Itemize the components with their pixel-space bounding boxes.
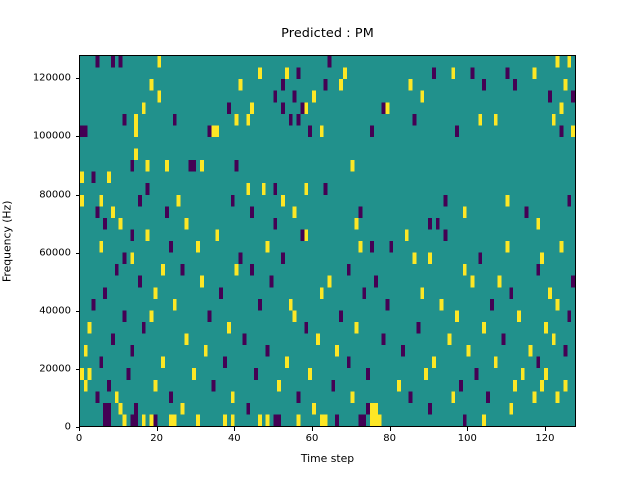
heatmap-axes[interactable] — [79, 55, 576, 427]
y-tick-mark — [76, 427, 80, 428]
x-tick-label: 60 — [306, 433, 319, 444]
y-tick-label: 20000 — [39, 363, 71, 374]
heatmap-mesh — [80, 56, 575, 426]
x-tick-label: 40 — [228, 433, 241, 444]
x-axis-label: Time step — [79, 452, 576, 465]
x-tick-label: 80 — [383, 433, 396, 444]
x-tick-mark — [234, 427, 235, 431]
y-tick-label: 80000 — [39, 189, 71, 200]
y-tick-mark — [76, 136, 80, 137]
x-tick-mark — [390, 427, 391, 431]
x-tick-label: 120 — [535, 433, 554, 444]
y-tick-label: 0 — [65, 422, 71, 433]
y-tick-label: 100000 — [33, 131, 71, 142]
x-tick-mark — [545, 427, 546, 431]
y-tick-mark — [76, 369, 80, 370]
y-tick-label: 60000 — [39, 247, 71, 258]
y-tick-label: 120000 — [33, 73, 71, 84]
y-axis-label: Frequency (Hz) — [0, 55, 14, 427]
y-tick-mark — [76, 195, 80, 196]
x-tick-label: 20 — [150, 433, 163, 444]
y-tick-mark — [76, 311, 80, 312]
x-tick-mark — [157, 427, 158, 431]
x-tick-label: 0 — [76, 433, 82, 444]
y-tick-mark — [76, 253, 80, 254]
matplotlib-figure: Predicted : PM Time step Frequency (Hz) … — [0, 0, 640, 480]
chart-title: Predicted : PM — [79, 26, 576, 41]
x-tick-mark — [467, 427, 468, 431]
y-tick-label: 40000 — [39, 305, 71, 316]
x-tick-label: 100 — [458, 433, 477, 444]
x-tick-mark — [312, 427, 313, 431]
y-tick-mark — [76, 78, 80, 79]
x-tick-mark — [79, 427, 80, 431]
